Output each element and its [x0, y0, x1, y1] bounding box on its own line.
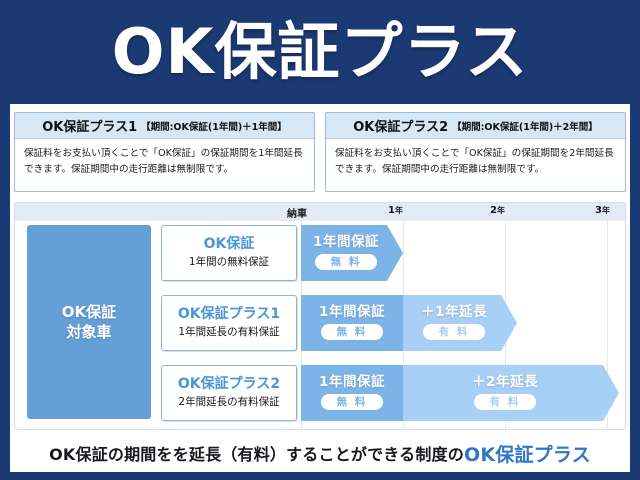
- axis-tick-delivery-label: 納車: [287, 209, 307, 220]
- info-box-plus1-title: OK保証プラス1: [42, 116, 137, 135]
- info-box-plus1-description: 保証料をお支払い頂くことで「OK保証」の保証期間を1年間延長できます。保証期間中…: [15, 139, 314, 191]
- info-box-plus2-title: OK保証プラス2: [353, 116, 448, 135]
- chart-left-axis-line1: OK保証: [62, 302, 116, 322]
- infographic-page: OK保証プラス OK保証プラス1 【期間:OK保証(1年間)＋1年間】 保証料を…: [0, 0, 640, 480]
- chart-row-2-subtitle: 1年間延長の有料保証: [178, 326, 279, 340]
- header-banner: OK保証プラス: [0, 0, 640, 104]
- axis-tick-year-2-unit: 年: [497, 206, 505, 215]
- timeline-axis-band: [15, 203, 625, 221]
- axis-tick-year-3: 3年: [595, 205, 610, 216]
- chart-bar-row-2-paid-badge: 有 料: [423, 324, 486, 340]
- chart-bar-row-3-free: 1年間保証 無 料: [301, 365, 403, 421]
- info-box-plus2-header: OK保証プラス2 【期間:OK保証(1年間)＋2年間】: [326, 113, 625, 139]
- axis-tick-delivery: 納車: [287, 205, 307, 220]
- chart-row-3-title: OK保証プラス2: [178, 376, 280, 394]
- chart-row-1-subtitle: 1年間の無料保証: [189, 256, 269, 270]
- chart-left-axis-line2: 対象車: [66, 322, 111, 342]
- axis-tick-year-1-unit: 年: [395, 206, 403, 215]
- info-box-row: OK保証プラス1 【期間:OK保証(1年間)＋1年間】 保証料をお支払い頂くこと…: [14, 112, 626, 192]
- chart-bar-row-2-free-badge: 無 料: [321, 324, 384, 340]
- chart-bar-row-3-paid: ＋2年延長 有 料: [403, 365, 619, 421]
- info-box-plus2: OK保証プラス2 【期間:OK保証(1年間)＋2年間】 保証料をお支払い頂くこと…: [325, 112, 626, 192]
- chart-bar-row-1-free: 1年間保証 無 料: [301, 225, 403, 281]
- chart-row-label-ok-hosho-plus2: OK保証プラス2 2年間延長の有料保証: [161, 365, 297, 421]
- axis-tick-year-2-value: 2: [490, 205, 497, 216]
- info-box-plus2-description: 保証料をお支払い頂くことで「OK保証」の保証期間を2年間延長できます。保証期間中…: [326, 139, 625, 191]
- chart-row-label-ok-hosho-plus1: OK保証プラス1 1年間延長の有料保証: [161, 295, 297, 351]
- footer-caption: OK保証の期間をを延長（有料）することができる制度の OK保証プラス: [10, 434, 630, 472]
- chart-bar-row-1-free-label: 1年間保証: [313, 236, 379, 250]
- frame-border-bottom: [0, 472, 640, 480]
- axis-tick-year-1: 1年: [388, 205, 403, 216]
- axis-tick-year-1-value: 1: [388, 205, 395, 216]
- axis-tick-year-3-value: 3: [595, 205, 602, 216]
- info-box-plus1: OK保証プラス1 【期間:OK保証(1年間)＋1年間】 保証料をお支払い頂くこと…: [14, 112, 315, 192]
- chart-bar-row-3-paid-badge: 有 料: [474, 394, 537, 410]
- axis-tick-year-3-unit: 年: [602, 206, 610, 215]
- chart-bar-row-3-free-label: 1年間保証: [319, 376, 385, 390]
- chart-row-3-subtitle: 2年間延長の有料保証: [178, 396, 279, 410]
- chart-bar-row-2-free: 1年間保証 無 料: [301, 295, 403, 351]
- chart-row-label-ok-hosho: OK保証 1年間の無料保証: [161, 225, 297, 281]
- axis-tick-year-2: 2年: [490, 205, 505, 216]
- chart-bar-row-1-free-badge: 無 料: [315, 254, 378, 270]
- chart-left-axis-block: OK保証 対象車: [27, 225, 151, 419]
- page-title: OK保証プラス: [112, 21, 529, 83]
- chart-row-1-title: OK保証: [204, 236, 255, 254]
- info-box-plus2-period: 【期間:OK保証(1年間)＋2年間】: [452, 119, 598, 133]
- chart-bar-row-3-free-badge: 無 料: [321, 394, 384, 410]
- chart-bar-row-2-paid-label: ＋1年延長: [421, 306, 487, 320]
- chart-bar-row-2-paid: ＋1年延長 有 料: [403, 295, 517, 351]
- footer-accent-text: OK保証プラス: [464, 440, 591, 467]
- info-box-plus1-header: OK保証プラス1 【期間:OK保証(1年間)＋1年間】: [15, 113, 314, 139]
- chart-bar-row-3-paid-label: ＋2年延長: [472, 376, 538, 390]
- chart-row-2-title: OK保証プラス1: [178, 306, 280, 324]
- info-box-plus1-period: 【期間:OK保証(1年間)＋1年間】: [141, 119, 287, 133]
- chart-bar-row-2-free-label: 1年間保証: [319, 306, 385, 320]
- warranty-timeline-chart: 納車 1年 2年 3年 OK保証 対象車 OK保証 1年間の無料保証 1年間保証…: [14, 202, 626, 430]
- footer-plain-text: OK保証の期間をを延長（有料）することができる制度の: [49, 441, 464, 465]
